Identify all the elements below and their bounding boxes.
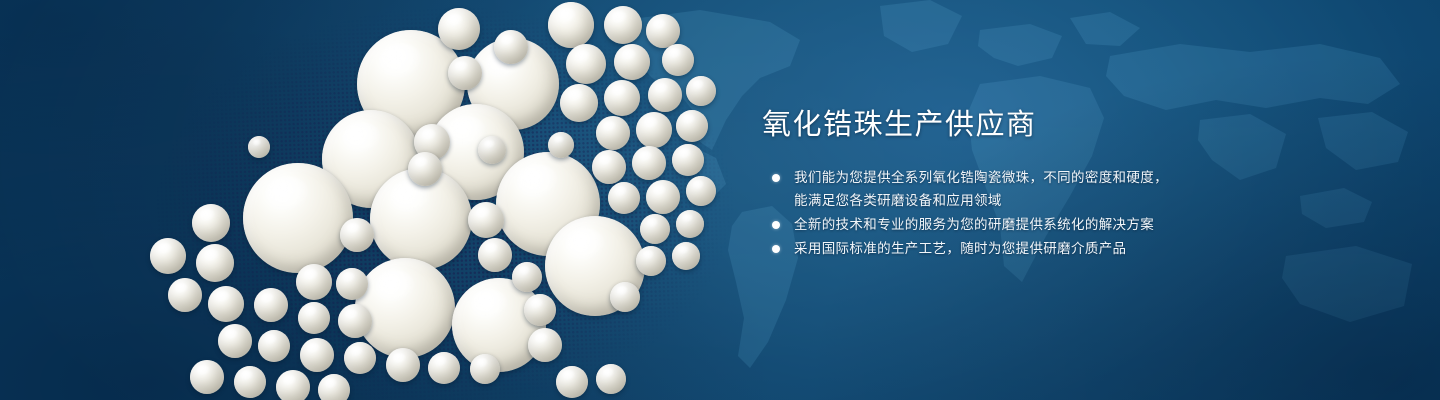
hero-banner: 氧化锆珠生产供应商 我们能为您提供全系列氧化锆陶瓷微珠，不同的密度和硬度， 能满… — [0, 0, 1440, 400]
feature-list-item: 全新的技术和专业的服务为您的研磨提供系统化的解决方案 — [762, 213, 1322, 236]
zirconia-beads-image — [0, 0, 780, 400]
feature-line: 全新的技术和专业的服务为您的研磨提供系统化的解决方案 — [794, 213, 1322, 236]
feature-line: 我们能为您提供全系列氧化锆陶瓷微珠，不同的密度和硬度， — [794, 166, 1322, 189]
feature-list-item: 采用国际标准的生产工艺，随时为您提供研磨介质产品 — [762, 237, 1322, 260]
bullet-dot-icon — [772, 245, 780, 253]
feature-line: 能满足您各类研磨设备和应用领域 — [794, 189, 1322, 212]
feature-list: 我们能为您提供全系列氧化锆陶瓷微珠，不同的密度和硬度， 能满足您各类研磨设备和应… — [762, 166, 1322, 260]
bullet-dot-icon — [772, 174, 780, 182]
banner-title: 氧化锆珠生产供应商 — [762, 106, 1322, 144]
bullet-dot-icon — [772, 221, 780, 229]
feature-line: 采用国际标准的生产工艺，随时为您提供研磨介质产品 — [794, 237, 1322, 260]
feature-list-item: 我们能为您提供全系列氧化锆陶瓷微珠，不同的密度和硬度， 能满足您各类研磨设备和应… — [762, 166, 1322, 212]
banner-text-block: 氧化锆珠生产供应商 我们能为您提供全系列氧化锆陶瓷微珠，不同的密度和硬度， 能满… — [762, 106, 1322, 261]
